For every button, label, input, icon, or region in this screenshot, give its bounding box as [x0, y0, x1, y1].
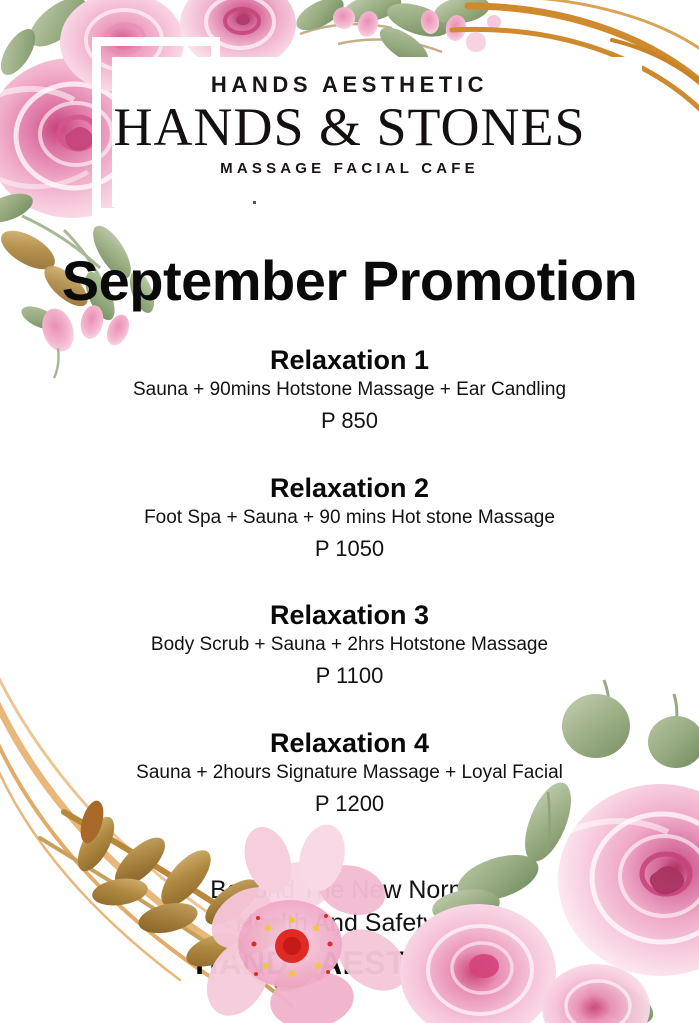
package-1-description: Sauna + 90mins Hotstone Massage + Ear Ca…: [0, 376, 699, 405]
package-3-description: Body Scrub + Sauna + 2hrs Hotstone Massa…: [0, 631, 699, 660]
page-title: September Promotion: [0, 248, 699, 313]
package-block-3: Relaxation 3 Body Scrub + Sauna + 2hrs H…: [0, 600, 699, 691]
promotion-poster: HANDS AESTHETIC HANDS & STONES MASSAGE F…: [0, 0, 699, 1023]
logo-dot-mark: [253, 201, 256, 204]
logo-top-line: HANDS AESTHETIC: [0, 72, 699, 98]
package-block-2: Relaxation 2 Foot Spa + Sauna + 90 mins …: [0, 473, 699, 564]
footer-block: Beyond The New Normal Health And Safety …: [0, 874, 699, 985]
package-1-price: P 850: [0, 405, 699, 437]
footer-line-1: Beyond The New Normal: [0, 874, 699, 907]
package-1-name: Relaxation 1: [0, 345, 699, 376]
package-2-description: Foot Spa + Sauna + 90 mins Hot stone Mas…: [0, 504, 699, 533]
package-3-name: Relaxation 3: [0, 600, 699, 631]
package-4-description: Sauna + 2hours Signature Massage + Loyal…: [0, 759, 699, 788]
package-4-price: P 1200: [0, 788, 699, 820]
package-block-1: Relaxation 1 Sauna + 90mins Hotstone Mas…: [0, 345, 699, 436]
package-2-name: Relaxation 2: [0, 473, 699, 504]
footer-line-2: Health And Safety at: [0, 907, 699, 940]
package-block-4: Relaxation 4 Sauna + 2hours Signature Ma…: [0, 728, 699, 819]
logo-main-line: HANDS & STONES: [0, 96, 699, 158]
package-3-price: P 1100: [0, 660, 699, 692]
package-2-price: P 1050: [0, 533, 699, 565]
logo-sub-line: MASSAGE FACIAL CAFE: [0, 160, 699, 177]
footer-brand-name: HANDS AESTHETIC: [0, 943, 699, 985]
package-4-name: Relaxation 4: [0, 728, 699, 759]
